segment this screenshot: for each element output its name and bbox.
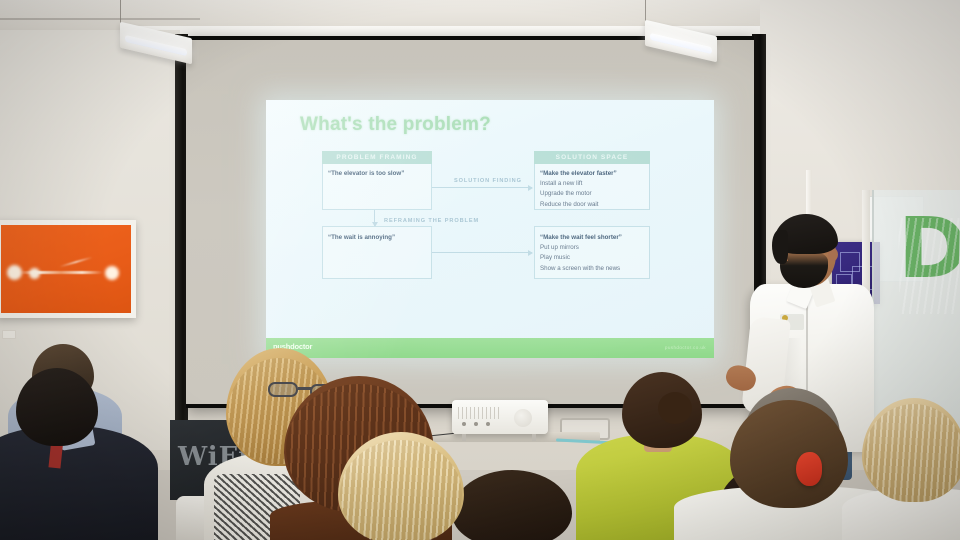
arrow-solution-finding [432,187,532,188]
slide-line: “Make the elevator faster” [540,169,645,179]
arrow-reframing-down [374,210,375,226]
projector-lens [514,409,532,427]
artwork-streak [19,271,103,274]
presenter-hair [772,230,788,264]
slide-line: “The elevator is too slow” [328,169,427,179]
slide-line: “Make the wait feel shorter” [540,233,645,243]
slide-box-header: PROBLEM FRAMING [322,151,432,164]
projector-vent [458,407,502,419]
projector-button [462,422,466,426]
audience-front-left-suit [0,368,156,540]
slide-box-header: SOLUTION SPACE [534,151,650,164]
flow-label-reframing-the-problem: REFRAMING THE PROBLEM [384,218,479,224]
person-head [730,400,848,508]
slide-line: Show a screen with the news [540,264,645,274]
slide-box-problem-framing: PROBLEM FRAMING “The elevator is too slo… [322,151,432,210]
slide-box-solution-space: SOLUTION SPACE “Make the elevator faster… [534,151,650,210]
slide-line: Install a new lift [540,179,645,189]
slide-line: Put up mirrors [540,243,645,253]
orange-framed-artwork [0,220,136,318]
slide-title: What's the problem? [300,114,491,136]
slide-line: “The wait is annoying” [328,233,427,243]
slide-line: Reduce the door wait [540,200,645,210]
slide-box-reframed-solution-space: “Make the wait feel shorter” Put up mirr… [534,226,650,279]
projector-button [486,422,490,426]
slide-box-body: “Make the elevator faster” Install a new… [540,169,645,210]
artwork-streak [59,256,92,267]
projected-slide: What's the problem? PROBLEM FRAMING “The… [266,100,714,358]
slide-line: Play music [540,253,645,263]
red-headphone [796,452,822,486]
slide-footer-url: pushdoctor.co.uk [665,345,706,350]
presentation-room-photo: What's the problem? PROBLEM FRAMING “The… [0,0,960,540]
dr-green-graphic: DR [898,212,960,320]
ceiling-seam [0,18,200,20]
audience-blonde-center-right [330,432,472,540]
slide-box-body: “Make the wait feel shorter” Put up mirr… [540,233,645,274]
flow-label-solution-finding: SOLUTION FINDING [454,178,522,184]
projector-foot [532,434,536,441]
slide-box-body: “The elevator is too slow” [328,169,427,179]
slide-box-body: “The wait is annoying” [328,233,427,243]
projector [452,400,548,434]
person-hair-bun [658,392,692,424]
artwork-canvas [1,225,131,313]
slide-line: Upgrade the motor [540,189,645,199]
arrow-reframed-solution [432,252,532,253]
projector-button [474,422,478,426]
wall-socket [2,330,16,339]
artwork-dot [105,266,119,280]
audience-blonde-far-right [862,398,960,540]
person-head [16,368,98,446]
person-hair [340,440,462,540]
person-hair [864,404,960,502]
slide-box-reframed-problem: “The wait is annoying” [322,226,432,279]
